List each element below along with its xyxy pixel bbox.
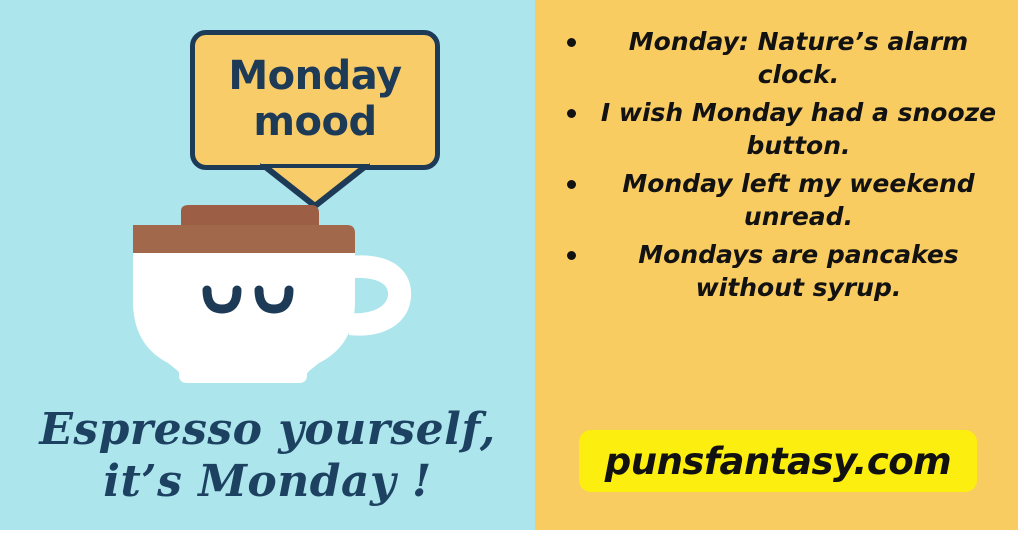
coffee-band-layer	[133, 225, 355, 253]
coffee-cup-illustration	[0, 205, 535, 390]
right-panel: Monday: Nature’s alarm clock. I wish Mon…	[535, 0, 1018, 530]
coffee-cup-icon	[123, 205, 413, 390]
monday-mood-poster: Monday mood	[0, 0, 1024, 536]
website-banner-text: punsfantasy.com	[605, 440, 951, 483]
speech-bubble: Monday mood	[190, 30, 440, 170]
tagline-line-2: it’s Monday !	[0, 456, 535, 508]
website-banner[interactable]: punsfantasy.com	[579, 430, 977, 492]
list-item: I wish Monday had a snooze button.	[559, 97, 1002, 162]
left-panel: Monday mood	[0, 0, 535, 530]
speech-bubble-line-2: mood	[205, 99, 425, 145]
list-item: Monday left my weekend unread.	[559, 168, 1002, 233]
list-item: Mondays are pancakes without syrup.	[559, 239, 1002, 304]
tagline-line-1: Espresso yourself,	[39, 404, 495, 455]
coffee-top-layer	[181, 205, 319, 225]
cup-base	[179, 357, 307, 383]
speech-bubble-body: Monday mood	[190, 30, 440, 170]
joke-list: Monday: Nature’s alarm clock. I wish Mon…	[559, 26, 1002, 304]
tagline: Espresso yourself, it’s Monday !	[0, 404, 535, 508]
speech-bubble-tail-icon	[255, 162, 375, 208]
speech-bubble-line-1: Monday	[205, 53, 425, 99]
list-item: Monday: Nature’s alarm clock.	[559, 26, 1002, 91]
